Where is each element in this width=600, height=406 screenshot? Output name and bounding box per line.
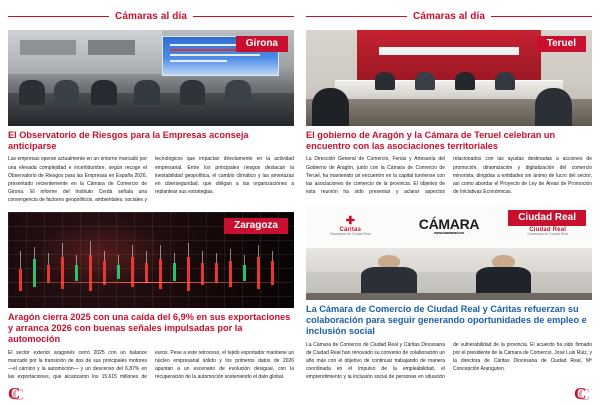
photo-stage bbox=[306, 248, 592, 300]
city-badge-girona: Girona bbox=[236, 36, 288, 52]
article-body-text: La Cámara de Comercio de Ciudad Real y C… bbox=[306, 341, 592, 381]
newsletter-page: Cámaras al día Girona El Observatorio de… bbox=[0, 0, 600, 406]
masthead-right: Cámaras al día bbox=[306, 0, 592, 26]
camara-logo-center: CÁMARA www.camarach.es bbox=[419, 217, 479, 235]
article-headline-teruel[interactable]: El gobierno de Aragón y la Cámara de Ter… bbox=[306, 130, 592, 152]
article-photo-ciudad-real: ✚ Cáritas Diocesana de Ciudad Real CÁMAR… bbox=[306, 204, 592, 300]
left-column: Cámaras al día Girona El Observatorio de… bbox=[0, 0, 300, 406]
masthead-rule-right bbox=[193, 16, 294, 17]
trend-line bbox=[8, 282, 294, 283]
article-body-ciudad-real: La Cámara de Comercio de Ciudad Real y C… bbox=[306, 341, 592, 381]
article-headline-ciudad-real[interactable]: La Cámara de Comercio de Ciudad Real y C… bbox=[306, 304, 592, 338]
article-body-girona: Las empresas operan actualmente en un en… bbox=[8, 155, 294, 204]
article-girona[interactable]: Girona El Observatorio de Riesgos para l… bbox=[8, 30, 294, 204]
article-body-text: El sector exterior aragonés cerró 2025 c… bbox=[8, 349, 294, 381]
masthead-title: Cámaras al día bbox=[115, 11, 187, 22]
caritas-sublabel: Diocesana de Ciudad Real bbox=[330, 233, 370, 236]
article-teruel[interactable]: Teruel El gobierno de Aragón y la Cámara… bbox=[306, 30, 592, 196]
cross-icon: ✚ bbox=[330, 216, 370, 227]
masthead-rule-right bbox=[491, 16, 592, 17]
camara-logo-bottom-right: C C bbox=[574, 386, 590, 402]
article-ciudad-real[interactable]: ✚ Cáritas Diocesana de Ciudad Real CÁMAR… bbox=[306, 204, 592, 381]
masthead-rule-left bbox=[8, 16, 109, 17]
caritas-logo-left: ✚ Cáritas Diocesana de Ciudad Real bbox=[330, 216, 370, 236]
article-headline-zaragoza[interactable]: Aragón cierra 2025 con una caída del 6,9… bbox=[8, 312, 294, 346]
camara-logo-bottom-left: C C bbox=[8, 386, 24, 402]
speaker-table bbox=[335, 80, 564, 100]
article-body-text: Las empresas operan actualmente en un en… bbox=[8, 155, 294, 204]
article-body-teruel: La Dirección General de Comercio, Ferias… bbox=[306, 155, 592, 195]
ciudad-real-sublabel: Diocesana de Ciudad Real bbox=[528, 233, 568, 236]
article-body-text: La Dirección General de Comercio, Ferias… bbox=[306, 155, 592, 195]
photo-wall bbox=[8, 30, 162, 74]
masthead-left: Cámaras al día bbox=[8, 0, 294, 26]
article-photo-girona: Girona bbox=[8, 30, 294, 126]
photo-desk bbox=[306, 293, 592, 300]
article-zaragoza[interactable]: Zaragoza Aragón cierra 2025 con una caíd… bbox=[8, 212, 294, 381]
article-photo-teruel: Teruel bbox=[306, 30, 592, 126]
city-badge-ciudad-real: Ciudad Real bbox=[508, 210, 586, 226]
article-body-zaragoza: El sector exterior aragonés cerró 2025 c… bbox=[8, 349, 294, 381]
article-photo-zaragoza: Zaragoza bbox=[8, 212, 294, 308]
backdrop-panel bbox=[306, 248, 592, 272]
city-badge-zaragoza: Zaragoza bbox=[224, 218, 288, 234]
masthead-rule-left bbox=[306, 16, 407, 17]
right-column: Cámaras al día Teruel El gobierno de Ara… bbox=[300, 0, 600, 406]
logo-letter: C bbox=[8, 386, 24, 402]
article-headline-girona[interactable]: El Observatorio de Riesgos para la Empre… bbox=[8, 130, 294, 152]
masthead-title: Cámaras al día bbox=[413, 11, 485, 22]
camara-label: CÁMARA bbox=[419, 217, 479, 231]
logo-letter: C bbox=[574, 386, 590, 402]
city-badge-teruel: Teruel bbox=[537, 36, 586, 52]
